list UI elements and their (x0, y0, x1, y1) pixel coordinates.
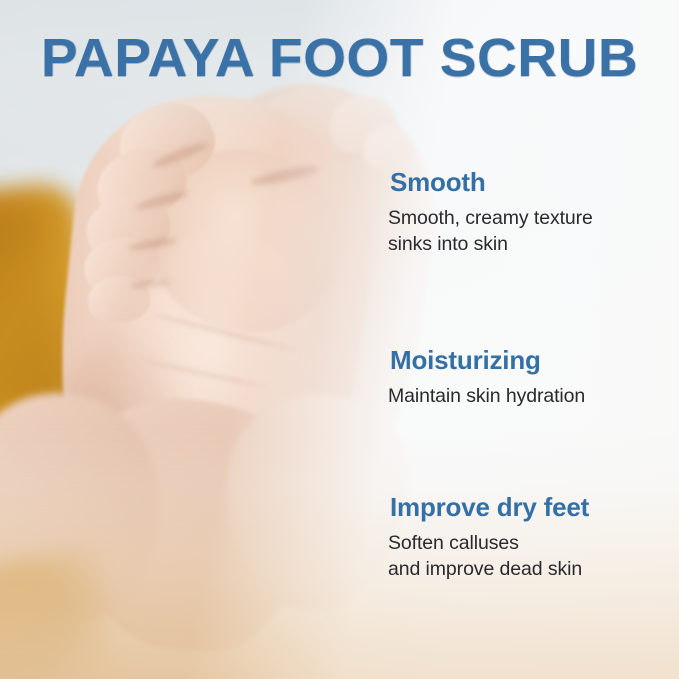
feature-heading: Moisturizing (390, 346, 673, 375)
feature-moisturizing: Moisturizing Maintain skin hydration (388, 346, 673, 410)
feature-smooth: Smooth Smooth, creamy texture sinks into… (388, 168, 673, 257)
product-title: PAPAYA FOOT SCRUB (0, 31, 679, 85)
feature-improve-dry-feet: Improve dry feet Soften calluses and imp… (388, 493, 673, 582)
product-feature-image: PAPAYA FOOT SCRUB Smooth Smooth, creamy … (0, 0, 679, 679)
feature-description: Smooth, creamy texture sinks into skin (388, 206, 673, 258)
feature-heading: Improve dry feet (390, 493, 673, 522)
feature-description: Maintain skin hydration (388, 384, 673, 410)
feature-heading: Smooth (390, 168, 673, 197)
feature-description: Soften calluses and improve dead skin (388, 531, 673, 583)
